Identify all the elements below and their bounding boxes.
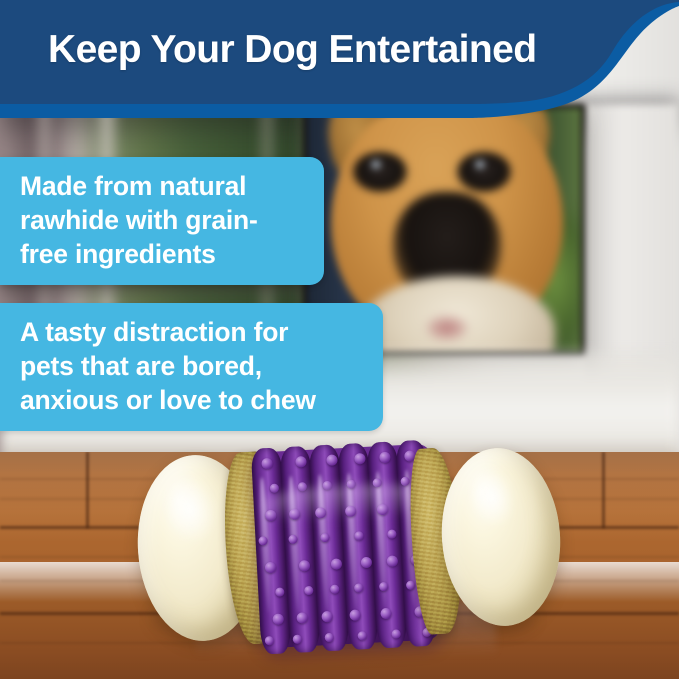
toy-nub (330, 584, 339, 593)
callout-line: anxious or love to chew (20, 383, 367, 417)
toy-nub (379, 582, 388, 591)
callout-line: pets that are bored, (20, 349, 367, 383)
callout-line: free ingredients (20, 237, 308, 271)
callout-line: A tasty distraction for (20, 315, 367, 349)
toy-nub (304, 586, 313, 595)
callout-line: rawhide with grain- (20, 203, 308, 237)
toy-nub (275, 587, 284, 596)
toy-nub (354, 583, 363, 592)
product-infographic: Keep Your Dog Entertained Made from natu… (0, 0, 679, 679)
callout-box-benefit: A tasty distraction for pets that are bo… (0, 303, 383, 431)
callout-box-ingredients: Made from natural rawhide with grain- fr… (0, 157, 324, 285)
toy-nub (324, 633, 333, 642)
toy-nub (295, 456, 307, 468)
callout-line: Made from natural (20, 169, 308, 203)
toy-nub (391, 629, 400, 638)
